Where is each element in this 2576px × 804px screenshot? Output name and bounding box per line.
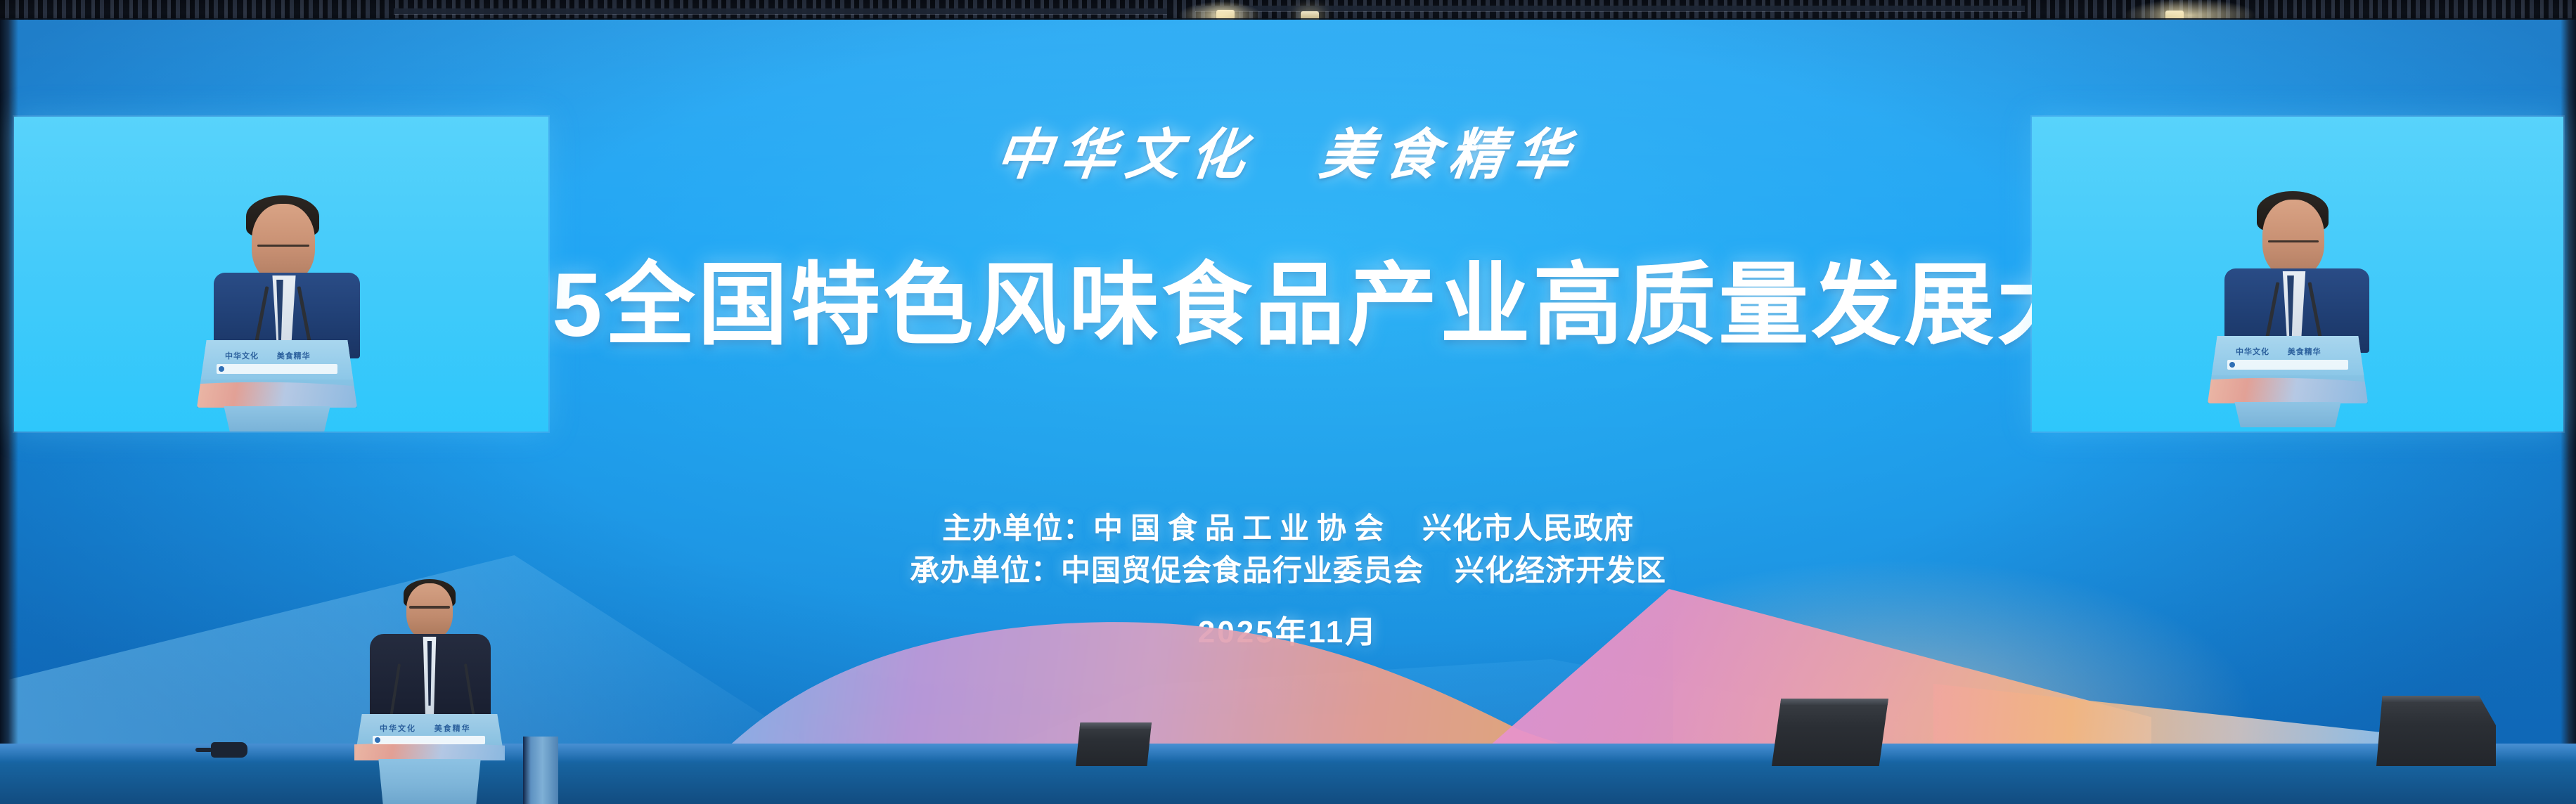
imag-right-podium-calli-2: 美食精华 <box>2288 347 2321 356</box>
imag-left-podium-calligraphy: 中华文化 美食精华 <box>225 350 311 361</box>
left-imag-content: 中华文化 美食精华 <box>14 117 548 432</box>
imag-left-podium-wave <box>197 377 357 408</box>
stage-floor-prop <box>211 742 247 758</box>
imag-right-podium-calligraphy: 中华文化 美食精华 <box>2236 346 2321 357</box>
credit-label-host: 主办单位： <box>942 512 1093 545</box>
credit-org-host-2: 兴化市人民政府 <box>1422 512 1634 545</box>
imag-left-podium-calli-2: 美食精华 <box>277 351 311 361</box>
stage-monitor-2 <box>1772 699 1888 766</box>
imag-left-podium-banner <box>217 364 337 374</box>
stage-speaker-glasses <box>409 606 450 609</box>
stage-podium-calli-1: 中华文化 <box>380 724 416 733</box>
stage-speaker-head <box>406 583 453 640</box>
right-imag-screen: 中华文化 美食精华 <box>2032 117 2563 432</box>
stage-podium-calli-2: 美食精华 <box>434 724 471 733</box>
truss-beam <box>1195 6 2025 11</box>
stage-podium-calligraphy: 中华文化 美食精华 <box>380 722 471 734</box>
imag-left-speaker-glasses <box>257 245 309 247</box>
right-imag-content: 中华文化 美食精华 <box>2032 117 2563 432</box>
stage-podium-stem <box>374 759 485 804</box>
credit-line-host: 主办单位：中国食品工业协会兴化市人民政府 <box>0 507 2576 550</box>
truss-beam <box>394 8 1167 14</box>
imag-right-speaker-glasses <box>2268 240 2319 242</box>
imag-left-podium-stem <box>218 406 336 432</box>
stage-podium-banner <box>373 736 485 744</box>
credit-org-organizer-1: 中国贸促会食品行业委员会 <box>1061 554 1424 587</box>
left-imag-screen: 中华文化 美食精华 <box>14 117 548 432</box>
imag-right-podium-banner <box>2227 360 2348 370</box>
imag-left-speaker-head <box>252 204 315 283</box>
imag-right-podium-calli-1: 中华文化 <box>2236 347 2269 356</box>
imag-left-podium-calli-1: 中华文化 <box>225 351 259 361</box>
imag-right-podium-wave <box>2208 372 2368 403</box>
stage-speaker: 中华文化 美食精华 <box>330 558 541 804</box>
stage-monitor-3 <box>2376 696 2496 766</box>
imag-right-podium-stem <box>2229 402 2347 427</box>
credit-label-organizer: 承办单位： <box>910 554 1061 587</box>
imag-right-speaker-head <box>2262 200 2324 277</box>
credit-org-host-1: 中国食品工业协会 <box>1093 512 1391 545</box>
stage-monitor-1 <box>1076 722 1152 766</box>
credit-org-organizer-2: 兴化经济开发区 <box>1455 554 1666 587</box>
conference-stage-scene: 中华文化 美食精华 2025全国特色风味食品产业高质量发展大会 主办单位：中国食… <box>0 0 2576 804</box>
